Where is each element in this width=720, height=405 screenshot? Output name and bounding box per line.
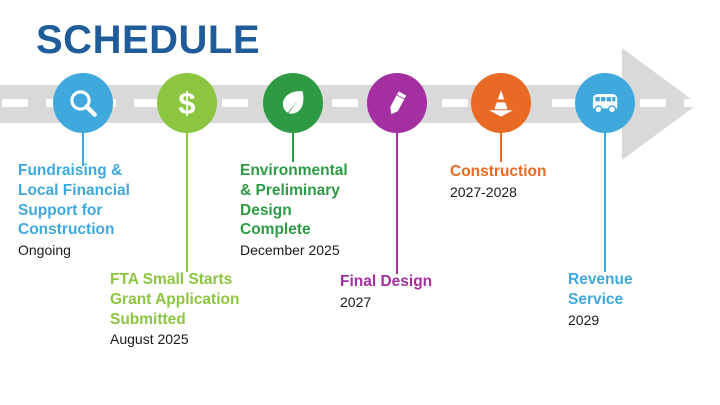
magnifier-icon[interactable] xyxy=(53,73,113,133)
milestone-date: 2027-2028 xyxy=(450,183,595,201)
pencil-icon[interactable] xyxy=(367,73,427,133)
milestone-title: Final Design xyxy=(340,272,490,292)
milestone-label: Final Design 2027 xyxy=(340,272,490,311)
milestone-title: Revenue Service xyxy=(568,270,698,310)
milestone-label: FTA Small Starts Grant Application Submi… xyxy=(110,270,275,349)
milestone-date: December 2025 xyxy=(240,241,375,259)
milestone-title: Fundraising & Local Financial Support fo… xyxy=(18,161,166,240)
road-dash xyxy=(2,99,28,107)
milestone-title: FTA Small Starts Grant Application Submi… xyxy=(110,270,275,329)
milestone-date: 2027 xyxy=(340,293,490,311)
milestone-title: Environmental & Preliminary Design Compl… xyxy=(240,161,375,240)
road-dash xyxy=(442,99,468,107)
road-dash xyxy=(640,99,666,107)
milestone-label: Revenue Service 2029 xyxy=(568,270,698,329)
milestone-label: Construction 2027-2028 xyxy=(450,162,595,201)
milestone-stem xyxy=(186,126,188,272)
road-dash xyxy=(332,99,358,107)
road-dash xyxy=(684,99,710,107)
milestone-date: 2029 xyxy=(568,311,698,329)
milestone-stem xyxy=(604,126,606,272)
leaf-icon[interactable] xyxy=(263,73,323,133)
road-dash xyxy=(222,99,248,107)
bus-icon[interactable] xyxy=(575,73,635,133)
milestone-date: Ongoing xyxy=(18,241,166,259)
svg-text:$: $ xyxy=(178,86,195,120)
milestone-stem xyxy=(396,126,398,274)
schedule-infographic: SCHEDULE Fundraising & Local Financial xyxy=(0,0,720,405)
milestone-title: Construction xyxy=(450,162,595,182)
milestone-label: Fundraising & Local Financial Support fo… xyxy=(18,161,166,260)
milestone-date: August 2025 xyxy=(110,330,275,348)
milestone-label: Environmental & Preliminary Design Compl… xyxy=(240,161,375,260)
traffic-cone-icon[interactable] xyxy=(471,73,531,133)
dollar-icon[interactable]: $ xyxy=(157,73,217,133)
